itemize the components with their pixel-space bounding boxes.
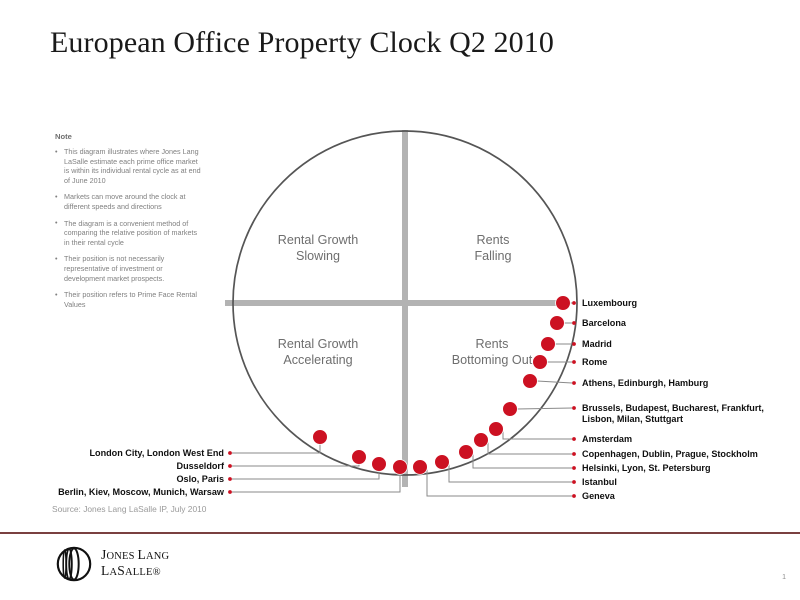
quadrant-label-rental-growth-slowing: Rental Growth Slowing (238, 232, 398, 264)
market-dot (550, 316, 565, 331)
leader-line (232, 471, 379, 479)
market-label: London City, London West End (0, 448, 224, 459)
slide-canvas: European Office Property Clock Q2 2010 N… (0, 0, 800, 600)
market-dot (372, 457, 387, 472)
leader-line (232, 444, 320, 453)
quadrant-label-rents-falling: Rents Falling (418, 232, 568, 264)
market-label: Dusseldorf (0, 461, 224, 472)
market-dot (489, 422, 504, 437)
label-tick-dot (228, 464, 232, 468)
quadrant-line-1: Rental Growth (278, 233, 359, 247)
market-dot (352, 450, 367, 465)
label-tick-dot (572, 452, 576, 456)
quadrant-label-rental-growth-accelerating: Rental Growth Accelerating (238, 336, 398, 368)
market-label: Luxembourg (582, 298, 637, 309)
label-tick-dot (572, 360, 576, 364)
label-tick-dot (572, 406, 576, 410)
label-tick-dot (572, 437, 576, 441)
market-dot (556, 296, 571, 311)
market-label: Geneva (582, 491, 615, 502)
logo-ang: ANG (146, 551, 169, 562)
label-tick-dot (572, 466, 576, 470)
quadrant-line-2: Bottoming Out (452, 353, 533, 367)
label-tick-dot (228, 451, 232, 455)
leader-line (449, 462, 572, 482)
label-tick-dot (572, 301, 576, 305)
quadrant-line-2: Slowing (296, 249, 340, 263)
leader-line (232, 464, 359, 466)
logo-s: S (117, 563, 125, 578)
label-tick-dot (228, 477, 232, 481)
leader-line (232, 474, 400, 492)
market-label: Brussels, Budapest, Bucharest, Frankfurt… (582, 403, 787, 425)
quadrant-label-rents-bottoming-out: Rents Bottoming Out (412, 336, 572, 368)
label-tick-dot (572, 494, 576, 498)
logo-wordmark: JONES LANG LASALLE® (101, 548, 169, 580)
label-tick-dot (572, 381, 576, 385)
market-label: Copenhagen, Dublin, Prague, Stockholm (582, 449, 758, 460)
label-tick-dot (572, 480, 576, 484)
market-dot (503, 402, 518, 417)
jones-lang-lasalle-logo: JONES LANG LASALLE® (56, 546, 169, 582)
market-dot (523, 374, 538, 389)
footer-divider (0, 532, 800, 534)
market-label: Athens, Edinburgh, Hamburg (582, 378, 708, 389)
logo-line-1: JONES LANG (101, 548, 169, 564)
market-label: Rome (582, 357, 607, 368)
market-label: Amsterdam (582, 434, 632, 445)
logo-ones: ONES (106, 551, 137, 562)
market-dot (413, 460, 428, 475)
market-dot (474, 433, 489, 448)
label-tick-dot (228, 490, 232, 494)
market-label: Madrid (582, 339, 612, 350)
market-label: Helsinki, Lyon, St. Petersburg (582, 463, 711, 474)
logo-alle: ALLE (125, 567, 153, 578)
logo-l: L (138, 547, 146, 562)
market-label: Oslo, Paris (0, 474, 224, 485)
logo-line-2: LASALLE® (101, 564, 169, 580)
quadrant-line-1: Rents (477, 233, 510, 247)
market-label: Berlin, Kiev, Moscow, Munich, Warsaw (0, 487, 224, 498)
market-dot (393, 460, 408, 475)
label-tick-dot (572, 321, 576, 325)
label-tick-dot (572, 342, 576, 346)
logo-trademark-icon: ® (153, 567, 161, 578)
leader-line (537, 381, 572, 383)
market-label: Istanbul (582, 477, 617, 488)
quadrant-line-1: Rents (476, 337, 509, 351)
page-number: 1 (782, 574, 786, 581)
leader-line (517, 408, 572, 409)
market-dot (313, 430, 328, 445)
market-dot (459, 445, 474, 460)
source-note: Source: Jones Lang LaSalle IP, July 2010 (52, 504, 206, 514)
quadrant-line-1: Rental Growth (278, 337, 359, 351)
market-label: Barcelona (582, 318, 626, 329)
market-dot (435, 455, 450, 470)
quadrant-line-2: Accelerating (283, 353, 352, 367)
globe-logo-icon (56, 546, 92, 582)
quadrant-line-2: Falling (474, 249, 511, 263)
